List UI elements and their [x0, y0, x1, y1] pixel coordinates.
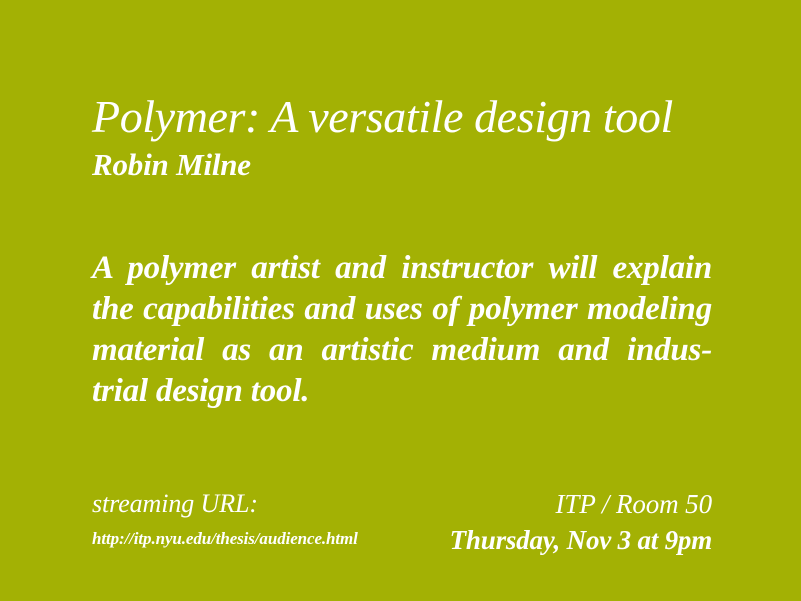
body-line-3: material as an artistic medium and indus…: [92, 330, 712, 371]
venue-location: ITP / Room 50: [450, 488, 712, 520]
body-line-1: A polymer artist and instructor will exp…: [92, 248, 712, 289]
streaming-info-block: streaming URL: http://itp.nyu.edu/thesis…: [92, 488, 358, 550]
streaming-url-link[interactable]: http://itp.nyu.edu/thesis/audience.html: [92, 528, 358, 550]
event-datetime: Thursday, Nov 3 at 9pm: [450, 524, 712, 556]
body-block: A polymer artist and instructor will exp…: [92, 248, 712, 412]
author-name: Robin Milne: [92, 146, 712, 183]
event-info-block: ITP / Room 50 Thursday, Nov 3 at 9pm: [450, 488, 712, 557]
title-block: Polymer: A versatile design tool Robin M…: [92, 92, 712, 183]
body-line-4: trial design tool.: [92, 371, 712, 412]
footer: streaming URL: http://itp.nyu.edu/thesis…: [92, 488, 712, 557]
streaming-url-label: streaming URL:: [92, 488, 358, 521]
body-paragraph: A polymer artist and instructor will exp…: [92, 248, 712, 412]
presentation-slide: Polymer: A versatile design tool Robin M…: [0, 0, 801, 601]
body-line-2: the capabilities and uses of polymer mod…: [92, 289, 712, 330]
page-title: Polymer: A versatile design tool: [92, 92, 712, 142]
